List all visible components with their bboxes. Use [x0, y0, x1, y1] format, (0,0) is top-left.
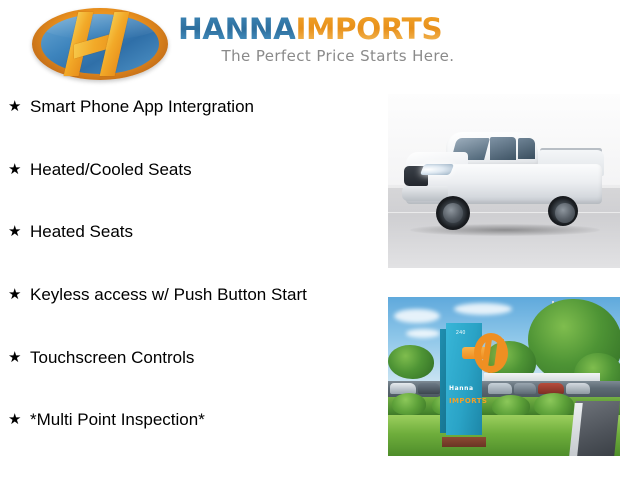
feature-label: Heated Seats: [30, 221, 133, 243]
truck-front-wheel: [436, 196, 470, 230]
brand-tagline: The Perfect Price Starts Here.: [178, 47, 498, 65]
truck-rear-wheel: [548, 196, 578, 226]
shrub: [534, 393, 574, 417]
brand-wordmark: HANNAIMPORTS The Perfect Price Starts He…: [178, 13, 518, 65]
sign-brand-line-1: Hanna: [449, 385, 474, 392]
shrub: [492, 395, 530, 417]
list-item: ★ Keyless access w/ Push Button Start: [0, 284, 380, 347]
feature-label: Smart Phone App Intergration: [30, 96, 254, 118]
dealership-photo: 240 Hanna IMPORTS: [388, 297, 620, 456]
star-bullet-icon: ★: [8, 347, 30, 369]
brand-name-imports: IMPORTS: [296, 12, 443, 46]
cloud: [454, 303, 512, 315]
sign-brand-line-2: IMPORTS: [449, 397, 487, 405]
star-bullet-icon: ★: [8, 409, 30, 431]
parked-car: [566, 383, 590, 394]
brand-name-hanna: HANNA: [178, 12, 296, 46]
truck-front-window: [490, 137, 516, 160]
feature-label: Keyless access w/ Push Button Start: [30, 284, 307, 306]
truck-headlight: [420, 164, 454, 175]
parked-car: [488, 383, 512, 394]
cloud: [406, 329, 440, 338]
parked-car: [418, 383, 440, 394]
dealer-header: HANNAIMPORTS The Perfect Price Starts He…: [0, 0, 640, 88]
hanna-imports-logo-icon: [32, 8, 168, 80]
pickup-truck-illustration: [402, 128, 606, 232]
shrub: [392, 393, 426, 415]
parked-car: [514, 383, 536, 394]
truck-rear-window: [518, 138, 535, 159]
sign-h-emblem-icon: [462, 333, 508, 377]
feature-list: ★ Smart Phone App Intergration ★ Heated/…: [0, 96, 380, 472]
feature-label: Touchscreen Controls: [30, 347, 194, 369]
vehicle-photo: [388, 94, 620, 268]
feature-sheet-page: HANNAIMPORTS The Perfect Price Starts He…: [0, 0, 640, 480]
feature-label: *Multi Point Inspection*: [30, 409, 205, 431]
truck-shadow: [410, 224, 600, 236]
feature-label: Heated/Cooled Seats: [30, 159, 192, 181]
star-bullet-icon: ★: [8, 284, 30, 306]
star-bullet-icon: ★: [8, 96, 30, 118]
list-item: ★ Heated/Cooled Seats: [0, 159, 380, 222]
logo-h-monogram-icon: [41, 10, 159, 78]
star-bullet-icon: ★: [8, 159, 30, 181]
cloud: [394, 309, 440, 323]
truck-front-bumper: [402, 186, 448, 201]
tree: [388, 345, 434, 379]
brand-name-line: HANNAIMPORTS: [178, 13, 525, 45]
list-item: ★ *Multi Point Inspection*: [0, 409, 380, 472]
list-item: ★ Heated Seats: [0, 221, 380, 284]
star-bullet-icon: ★: [8, 221, 30, 243]
pylon-brick-base: [442, 437, 486, 447]
list-item: ★ Touchscreen Controls: [0, 347, 380, 410]
list-item: ★ Smart Phone App Intergration: [0, 96, 380, 159]
